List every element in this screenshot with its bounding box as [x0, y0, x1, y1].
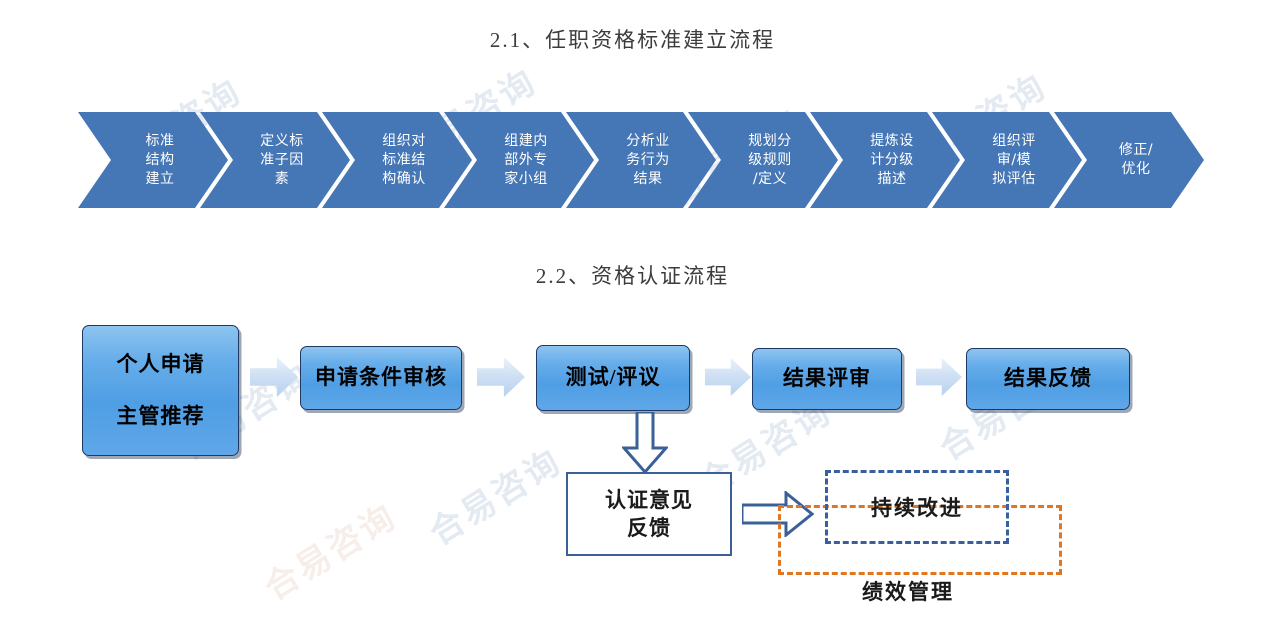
- chevron-line: 定义标: [247, 132, 317, 151]
- chevron-line: 拟评估: [979, 170, 1049, 189]
- chevron-line: 部外专: [491, 151, 561, 170]
- chevron-line: 提炼设: [857, 132, 927, 151]
- arrow-right-icon-2: [477, 357, 525, 397]
- chevron-line: 分析业: [613, 132, 683, 151]
- chevron-line: 描述: [857, 170, 927, 189]
- flow-box-line: 个人申请: [117, 353, 205, 376]
- flow-box-line: 结果反馈: [1004, 367, 1092, 390]
- performance-management-label: 绩效管理: [862, 576, 954, 606]
- chevron-line: 素: [247, 170, 317, 189]
- flow-box-condition-review[interactable]: 申请条件审核: [300, 346, 462, 410]
- section-title-2-1: 2.1、任职资格标准建立流程: [0, 24, 1265, 54]
- chevron-line: 标准: [125, 132, 195, 151]
- chevron-line: 优化: [1101, 160, 1171, 179]
- flow-box-line: 测试/评议: [566, 366, 661, 389]
- chevron-line: 计分级: [857, 151, 927, 170]
- continuous-improvement-label: 持续改进: [871, 492, 963, 522]
- arrow-right-icon-1: [250, 357, 298, 397]
- section-title-2-2: 2.2、资格认证流程: [0, 260, 1265, 290]
- arrow-right-icon-3: [705, 358, 751, 396]
- chevron-line: 组织对: [369, 132, 439, 151]
- flow-box-line: 主管推荐: [117, 405, 205, 428]
- watermark: 合易咨询: [418, 435, 569, 555]
- chevron-step-1[interactable]: 标准结构建立: [78, 112, 228, 208]
- chevron-line: 建立: [125, 170, 195, 189]
- arrow-down-icon: [622, 412, 668, 474]
- chevron-line: 结构: [125, 151, 195, 170]
- chevron-line: 组织评: [979, 132, 1049, 151]
- flow-box-result-review[interactable]: 结果评审: [752, 348, 902, 410]
- chevron-line: /定义: [735, 170, 805, 189]
- chevron-process: 标准结构建立 定义标准子因素 组织对标准结构确认 组建内部外专家小组 分析业务行…: [78, 112, 1188, 208]
- arrow-right-icon-4: [916, 358, 962, 396]
- chevron-line: 规划分: [735, 132, 805, 151]
- chevron-line: 务行为: [613, 151, 683, 170]
- flow-box-line: 申请条件审核: [315, 366, 447, 389]
- chevron-line: 标准结: [369, 151, 439, 170]
- watermark: 合易咨询: [253, 490, 404, 610]
- chevron-line: 审/模: [979, 151, 1049, 170]
- chevron-line: 构确认: [369, 170, 439, 189]
- chevron-line: 准子因: [247, 151, 317, 170]
- flow-box-test-evaluation[interactable]: 测试/评议: [536, 345, 690, 411]
- feedback-box-line: 反馈: [627, 514, 671, 542]
- chevron-line: 结果: [613, 170, 683, 189]
- chevron-line: 家小组: [491, 170, 561, 189]
- continuous-improvement-box[interactable]: 持续改进: [825, 470, 1009, 544]
- feedback-box[interactable]: 认证意见 反馈: [566, 472, 732, 556]
- flow-box-personal-application[interactable]: 个人申请 主管推荐: [82, 325, 239, 456]
- chevron-line: 修正/: [1101, 141, 1171, 160]
- slide-canvas: 合易咨询 合易咨询 合易咨询 合易咨询 合易咨询 合易咨询 合易咨询 合易咨询 …: [0, 0, 1265, 620]
- flow-box-line: 结果评审: [783, 367, 871, 390]
- flow-box-result-feedback[interactable]: 结果反馈: [966, 348, 1130, 410]
- chevron-line: 级规则: [735, 151, 805, 170]
- chevron-line: 组建内: [491, 132, 561, 151]
- feedback-box-line: 认证意见: [605, 486, 693, 514]
